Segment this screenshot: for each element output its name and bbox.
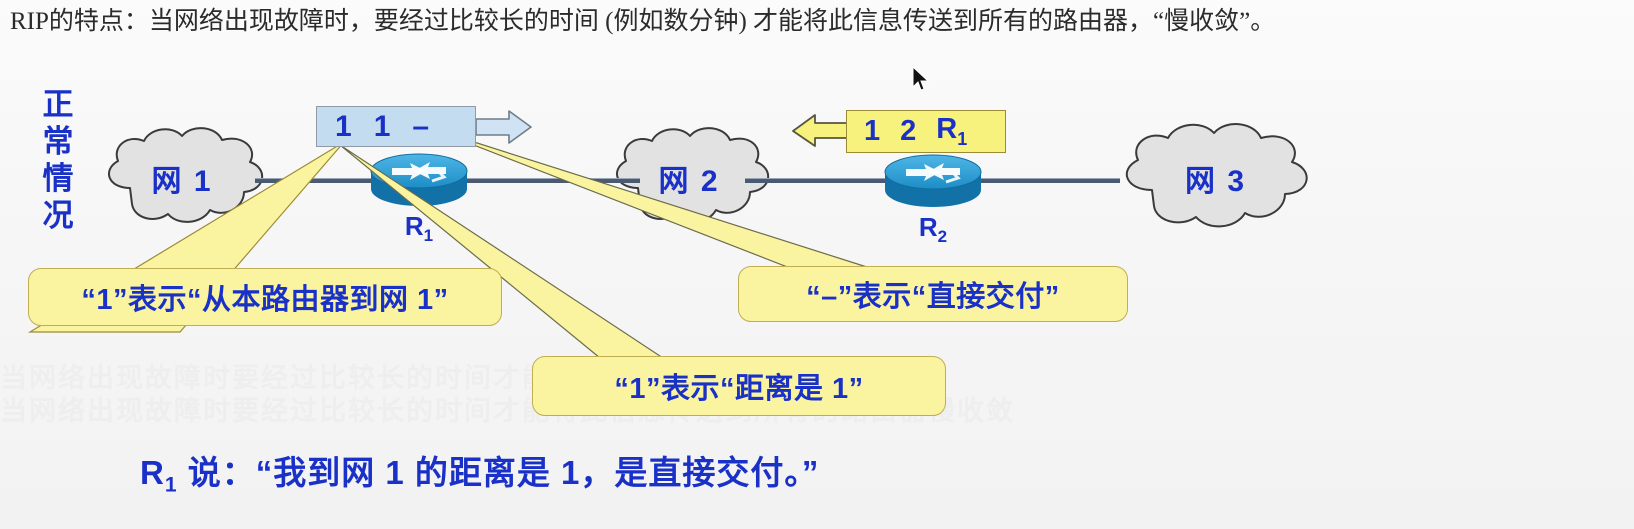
footer-speaker: R <box>140 454 165 491</box>
router-r1-label: R1 <box>370 211 468 246</box>
arrow-left-update-icon <box>791 113 849 147</box>
state-label-char-3: 况 <box>36 197 80 234</box>
footer-speaker-subscript: 1 <box>165 474 178 497</box>
cloud-net3-label: 网 3 <box>1108 156 1323 200</box>
page-title: RIP的特点：当网络出现故障时，要经过比较长的时间 (例如数分钟) 才能将此信息… <box>10 2 1630 42</box>
callout-from-router-to-net1-text: “1”表示“从本路由器到网 1” <box>81 276 448 318</box>
callout-from-router-to-net1[interactable]: “1”表示“从本路由器到网 1” <box>28 268 502 326</box>
routing-update-cell-distance: 2 <box>900 117 916 146</box>
cloud-net2-label: 网 2 <box>600 156 778 200</box>
mouse-cursor <box>912 66 932 99</box>
router-r1-subscript: 1 <box>424 226 433 245</box>
routing-update-cell-nexthop: R1 <box>936 115 967 148</box>
router-r2-name: R <box>919 212 938 242</box>
router-r1-name: R <box>405 211 424 241</box>
router-r2: R2 <box>884 152 982 210</box>
callout-distance-is-1[interactable]: “1”表示“距离是 1” <box>532 356 946 416</box>
routing-update-message[interactable]: 1 2 R1 <box>846 110 1006 153</box>
routing-table-r1-cell-nexthop: – <box>412 112 429 142</box>
router-r2-subscript: 2 <box>938 227 947 246</box>
cloud-net3: 网 3 <box>1108 118 1323 238</box>
callout-direct-delivery[interactable]: “–”表示“直接交付” <box>738 266 1128 322</box>
state-label-char-2: 情 <box>36 160 80 197</box>
state-label-normal: 正 常 情 况 <box>36 86 80 234</box>
routing-table-r1-cell-network: 1 <box>335 112 352 142</box>
state-label-char-0: 正 <box>36 86 80 123</box>
routing-table-r1-cell-distance: 1 <box>374 112 391 142</box>
cloud-net1: 网 1 <box>92 122 272 234</box>
footer-statement-text: 说：“我到网 1 的距离是 1，是直接交付。” <box>178 454 820 491</box>
router-r1: R1 <box>370 151 468 209</box>
callout-direct-delivery-text: “–”表示“直接交付” <box>806 273 1060 315</box>
routing-table-r1[interactable]: 1 1 – <box>316 106 476 147</box>
arrow-right-update-icon <box>476 110 532 144</box>
cloud-net1-label: 网 1 <box>92 156 272 200</box>
state-label-char-1: 常 <box>36 123 80 160</box>
router-r2-label: R2 <box>884 212 982 247</box>
routing-update-cell-network: 1 <box>864 117 880 146</box>
slide-canvas: RIP的特点：当网络出现故障时，要经过比较长的时间 (例如数分钟) 才能将此信息… <box>0 0 1634 529</box>
cloud-net2: 网 2 <box>600 122 778 234</box>
callout-distance-is-1-text: “1”表示“距离是 1” <box>614 365 863 407</box>
link-r2-net3 <box>960 178 1120 183</box>
footer-statement: R1 说：“我到网 1 的距离是 1，是直接交付。” <box>140 446 819 498</box>
